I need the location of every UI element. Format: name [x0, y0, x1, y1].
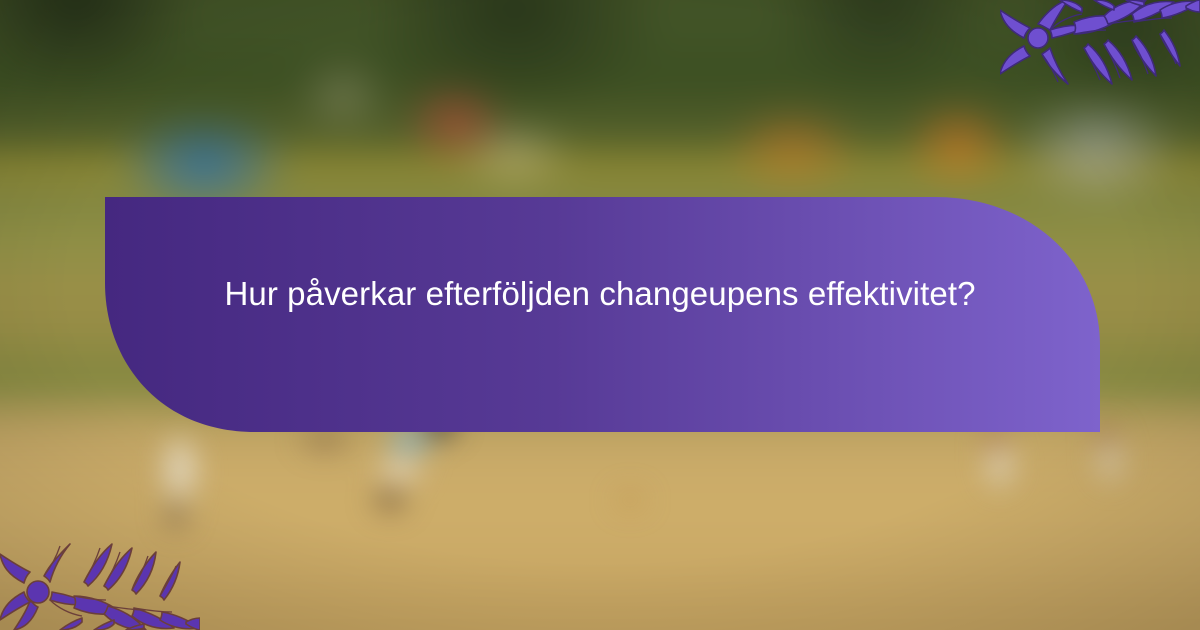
poster-canvas: Hur påverkar efterföljden changeupens ef…: [0, 0, 1200, 630]
floral-damask-ornament-bottom-left: [0, 430, 200, 630]
headline-text: Hur påverkar efterföljden changeupens ef…: [185, 268, 1015, 320]
floral-damask-ornament-top-right: [1000, 0, 1200, 200]
